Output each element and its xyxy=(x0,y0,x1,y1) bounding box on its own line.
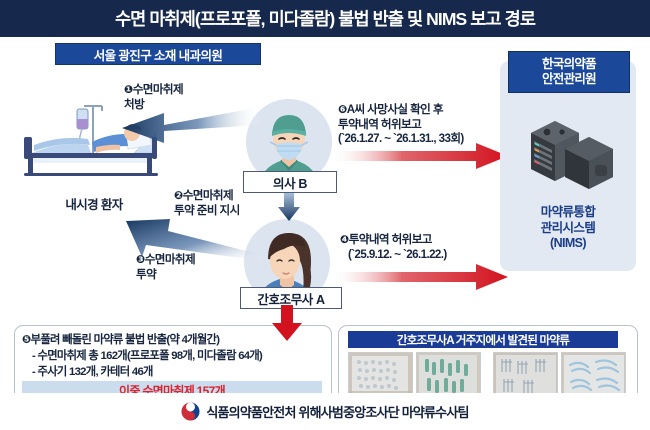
step-1-text: ❶수면마취제 처방 xyxy=(124,83,183,112)
server-icon xyxy=(521,107,617,203)
taegeuk-logo-icon xyxy=(181,402,200,421)
step-6-line2: 투약내역 허위보고 xyxy=(338,118,421,131)
summary-line-1: - 수면마취제 총 162개(프로포폴 98개, 미다졸람 64개) xyxy=(32,347,262,363)
summary-line-0-text: 부풀려 빼돌린 마약류 불법 반출(약 4개월간) xyxy=(31,334,220,346)
step-3-line2: 투약 xyxy=(136,268,156,281)
arrow-step-2 xyxy=(278,193,300,221)
step-4-number: ❹ xyxy=(340,234,349,246)
nims-org-line1: 한국의약품 xyxy=(542,57,596,73)
page-title: 수면 마취제(프로포폴, 미다졸람) 불법 반출 및 NIMS 보고 경로 xyxy=(115,6,535,31)
hospital-label-text: 서울 광진구 소재 내과의원 xyxy=(94,45,223,64)
nims-org-badge: 한국의약품 안전관리원 xyxy=(508,51,630,93)
step-1-line1: 수면마취제 xyxy=(133,83,183,96)
step-4-line2: (`25.9.12. ~ `26.1.22.) xyxy=(348,248,447,263)
step-1-number: ❶ xyxy=(124,84,133,96)
arrow-step-5 xyxy=(272,305,302,341)
step-1-line2: 처방 xyxy=(124,98,144,111)
evidence-header-badge: 간호조무사A 거주지에서 발견된 마약류 xyxy=(348,331,618,348)
arrow-step-6 xyxy=(330,141,510,171)
step-3-line1: 수면마취제 xyxy=(145,253,195,266)
step-4-text: ❹투약내역 허위보고 (`25.9.12. ~ `26.1.22.) xyxy=(340,233,447,262)
page-title-bar: 수면 마취제(프로포폴, 미다졸람) 불법 반출 및 NIMS 보고 경로 xyxy=(0,0,650,37)
footer-text: 식품의약품안전처 위해사범중앙조사단 마약류수사팀 xyxy=(206,402,468,421)
step-5-number: ❺ xyxy=(22,334,31,346)
evidence-photo-row xyxy=(348,352,481,399)
doctor-name: 의사 B xyxy=(273,173,307,192)
summary-line-2: - 주사기 132개, 카테터 46개 xyxy=(32,363,153,379)
evidence-header-text: 간호조무사A 거주지에서 발견된 마약류 xyxy=(397,332,569,348)
nims-sys-line2: 관리시스템 xyxy=(541,221,596,235)
step-3-number: ❸ xyxy=(136,254,145,266)
footer: 식품의약품안전처 위해사범중앙조사단 마약류수사팀 xyxy=(0,393,650,430)
diagram-stage: 서울 광진구 소재 내과의원 xyxy=(0,37,650,393)
nims-sys-line3: (NIMS) xyxy=(550,236,586,250)
doctor-name-tag: 의사 B xyxy=(243,171,337,193)
step-6-text: ❻A씨 사망사실 확인 후 투약내역 허위보고 (`26.1.27. ~ `26… xyxy=(338,103,464,147)
step-4-line1: 투약내역 허위보고 xyxy=(349,233,432,246)
infographic-root: 수면 마취제(프로포폴, 미다졸람) 불법 반출 및 NIMS 보고 경로 서울… xyxy=(0,0,650,430)
step-3-text: ❸수면마취제 투약 xyxy=(136,253,195,282)
summary-line-0: ❺부풀려 빼돌린 마약류 불법 반출(약 4개월간) xyxy=(22,331,219,347)
evidence-photo-row xyxy=(493,352,626,399)
step-2-number: ❷ xyxy=(174,190,183,202)
hospital-label-badge: 서울 광진구 소재 내과의원 xyxy=(55,43,261,65)
nims-org-line2: 안전관리원 xyxy=(542,72,596,88)
arrow-step-4 xyxy=(330,262,510,292)
step-6-number: ❻ xyxy=(338,104,347,116)
nims-sys-line1: 마약류통합 xyxy=(541,205,596,219)
nims-system-caption: 마약류통합 관리시스템 (NIMS) xyxy=(500,205,636,252)
step-6-line1: A씨 사망사실 확인 후 xyxy=(347,103,443,116)
step-2-line1: 수면마취제 xyxy=(183,189,233,202)
